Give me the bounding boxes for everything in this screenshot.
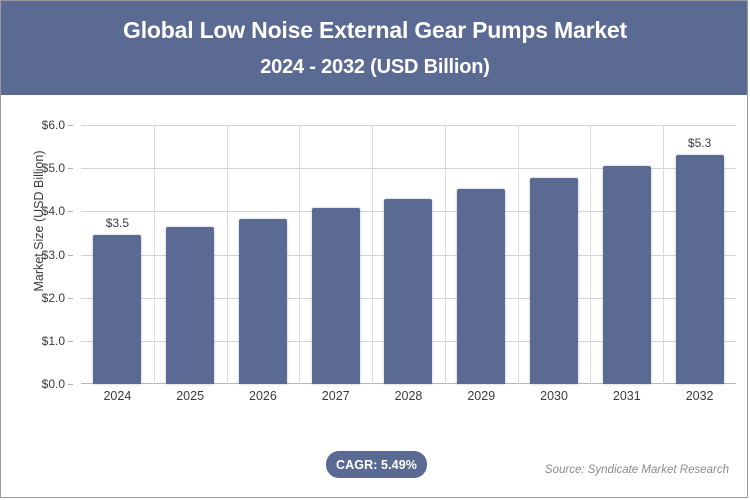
x-axis-tick-label: 2030 <box>518 389 591 403</box>
bar[interactable] <box>457 189 505 384</box>
y-axis-tick-label: $0.0 <box>42 377 65 391</box>
bar[interactable] <box>93 235 141 384</box>
bar-slot <box>518 125 591 384</box>
cagr-badge: CAGR: 5.49% <box>326 451 427 478</box>
bar-value-label: $5.3 <box>688 136 711 150</box>
y-axis-tick-label: $2.0 <box>42 291 65 305</box>
x-axis-tick-label: 2024 <box>81 389 154 403</box>
y-axis-tick-label: $3.0 <box>42 248 65 262</box>
y-axis-tickmark <box>68 211 73 212</box>
bar-slot <box>590 125 663 384</box>
bar-slot: $5.3 <box>663 125 736 384</box>
y-axis-tickmark <box>68 384 73 385</box>
bar-value-label: $3.5 <box>106 216 129 230</box>
bar-slot <box>445 125 518 384</box>
bar[interactable] <box>166 227 214 384</box>
x-axis-tick-label: 2029 <box>445 389 518 403</box>
bar-slot <box>372 125 445 384</box>
bar[interactable] <box>239 219 287 384</box>
x-axis-ticks: 202420252026202720282029203020312032 <box>81 389 736 413</box>
bar[interactable] <box>603 166 651 384</box>
source-note: Source: Syndicate Market Research <box>545 464 729 476</box>
y-axis-tickmark <box>68 255 73 256</box>
bar-slot <box>154 125 227 384</box>
bar-series: $3.5$5.3 <box>81 125 736 384</box>
x-axis-tick-label: 2032 <box>663 389 736 403</box>
y-axis-tick-label: $5.0 <box>42 161 65 175</box>
bar[interactable] <box>384 199 432 384</box>
bar[interactable] <box>530 178 578 384</box>
y-axis-tick-label: $6.0 <box>42 118 65 132</box>
bar-slot: $3.5 <box>81 125 154 384</box>
chart-title-line-2: 2024 - 2032 (USD Billion) <box>260 52 490 82</box>
bar[interactable] <box>676 155 724 384</box>
x-axis-tick-label: 2025 <box>154 389 227 403</box>
y-axis-tickmark <box>68 341 73 342</box>
chart-card: Global Low Noise External Gear Pumps Mar… <box>0 0 748 498</box>
y-axis-ticks: $0.0$1.0$2.0$3.0$4.0$5.0$6.0 <box>1 125 73 384</box>
bar-slot <box>227 125 300 384</box>
x-axis-tick-label: 2026 <box>227 389 300 403</box>
y-axis-tickmark <box>68 298 73 299</box>
x-axis-tick-label: 2027 <box>299 389 372 403</box>
chart-plot-region: Market Size (USD Billion) $0.0$1.0$2.0$3… <box>1 96 748 498</box>
y-axis-tickmark <box>68 125 73 126</box>
y-axis-tick-label: $4.0 <box>42 204 65 218</box>
y-axis-tickmark <box>68 168 73 169</box>
chart-header: Global Low Noise External Gear Pumps Mar… <box>1 1 748 95</box>
chart-title-line-1: Global Low Noise External Gear Pumps Mar… <box>123 15 627 45</box>
bar-slot <box>299 125 372 384</box>
y-axis-tick-label: $1.0 <box>42 334 65 348</box>
bar[interactable] <box>312 208 360 384</box>
x-axis-tick-label: 2028 <box>372 389 445 403</box>
x-axis-tick-label: 2031 <box>590 389 663 403</box>
